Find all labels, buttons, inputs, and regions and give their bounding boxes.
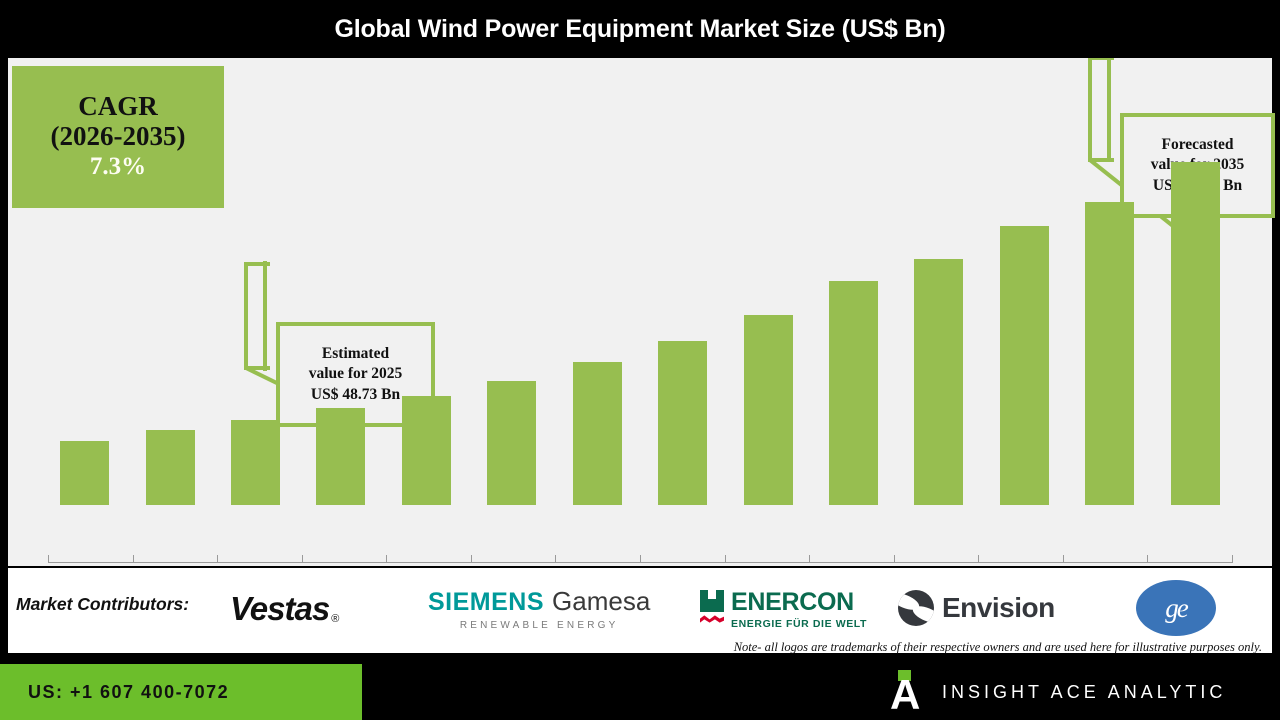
bar-slot	[384, 58, 469, 505]
infographic-page: Global Wind Power Equipment Market Size …	[0, 0, 1280, 720]
logo-ge: ge	[1136, 580, 1216, 636]
bar-2031[interactable]	[829, 281, 878, 505]
bar-slot	[127, 58, 212, 505]
insightace-logo-icon: A	[890, 670, 924, 714]
bar-slot	[469, 58, 554, 505]
trademark-note: Note- all logos are trademarks of their …	[734, 640, 1262, 655]
x-tick	[471, 555, 472, 563]
market-contributors-strip: Market Contributors: Vestas ® SIEMENS Ga…	[8, 568, 1272, 653]
bar-slot	[213, 58, 298, 505]
vestas-wordmark: Vestas	[230, 590, 329, 628]
x-tick	[725, 555, 726, 563]
bar-2034[interactable]	[1085, 202, 1134, 505]
contributors-label: Market Contributors:	[16, 594, 189, 615]
bar-2024[interactable]	[231, 420, 280, 505]
bar-slot	[1067, 58, 1152, 505]
x-tick	[1147, 555, 1148, 563]
x-tick	[555, 555, 556, 563]
bar-slot	[896, 58, 981, 505]
x-tick	[302, 555, 303, 563]
bar-2035[interactable]	[1171, 162, 1220, 505]
x-tick	[386, 555, 387, 563]
logo-envision: Envision	[898, 590, 1055, 626]
x-tick	[894, 555, 895, 563]
bar-slot	[555, 58, 640, 505]
plot-area	[42, 58, 1238, 505]
footer-phone[interactable]: US: +1 607 400-7072	[28, 682, 229, 703]
x-tick	[217, 555, 218, 563]
brand-initial: A	[890, 678, 924, 714]
x-tick	[809, 555, 810, 563]
x-tick	[640, 555, 641, 563]
bar-slot	[640, 58, 725, 505]
bar-slot	[811, 58, 896, 505]
bar-slot	[725, 58, 810, 505]
x-axis-ticks	[48, 555, 1232, 563]
bar-slot	[982, 58, 1067, 505]
bar-2033[interactable]	[1000, 226, 1049, 505]
ge-wordmark: ge	[1165, 593, 1186, 624]
ge-monogram-icon: ge	[1136, 580, 1216, 636]
siemens-gamesa-tagline: RENEWABLE ENERGY	[460, 620, 619, 631]
logo-siemens-gamesa: SIEMENS Gamesa RENEWABLE ENERGY	[428, 586, 650, 631]
logo-vestas: Vestas ®	[230, 590, 339, 628]
logo-enercon: ENERCON ENERGIE FÜR DIE WELT	[700, 590, 867, 630]
x-tick	[1232, 555, 1233, 563]
enercon-mark-icon	[700, 590, 726, 623]
x-tick	[1063, 555, 1064, 563]
bar-series	[42, 58, 1238, 505]
brand-name: INSIGHT ACE ANALYTIC	[942, 682, 1226, 703]
footer-brand-block: A INSIGHT ACE ANALYTIC	[890, 664, 1226, 720]
footer-contact-block: US: +1 607 400-7072	[0, 664, 362, 720]
x-tick	[978, 555, 979, 563]
bar-slot	[42, 58, 127, 505]
enercon-tagline: ENERGIE FÜR DIE WELT	[731, 618, 867, 630]
enercon-wordmark: ENERCON	[731, 590, 867, 615]
bar-slot	[298, 58, 383, 505]
bar-2025[interactable]	[316, 408, 365, 505]
x-tick	[48, 555, 49, 563]
x-tick	[133, 555, 134, 563]
bar-2032[interactable]	[914, 259, 963, 505]
bar-2028[interactable]	[573, 362, 622, 505]
bar-2029[interactable]	[658, 341, 707, 505]
footer-bar: US: +1 607 400-7072 A INSIGHT ACE ANALYT…	[0, 664, 1280, 720]
bar-2026[interactable]	[402, 396, 451, 505]
envision-swirl-icon	[898, 590, 934, 626]
chart-panel: CAGR (2026-2035) 7.3% Estimated value fo…	[8, 58, 1272, 566]
title-bar: Global Wind Power Equipment Market Size …	[0, 0, 1280, 58]
vestas-registered-icon: ®	[331, 613, 339, 625]
bar-slot	[1152, 58, 1237, 505]
page-title: Global Wind Power Equipment Market Size …	[334, 15, 945, 44]
bar-2023[interactable]	[146, 430, 195, 505]
bar-2022[interactable]	[60, 441, 109, 505]
gamesa-wordmark: Gamesa	[552, 586, 650, 617]
bar-2030[interactable]	[744, 315, 793, 505]
siemens-wordmark: SIEMENS	[428, 588, 544, 617]
envision-wordmark: Envision	[942, 592, 1055, 624]
bar-2027[interactable]	[487, 381, 536, 505]
